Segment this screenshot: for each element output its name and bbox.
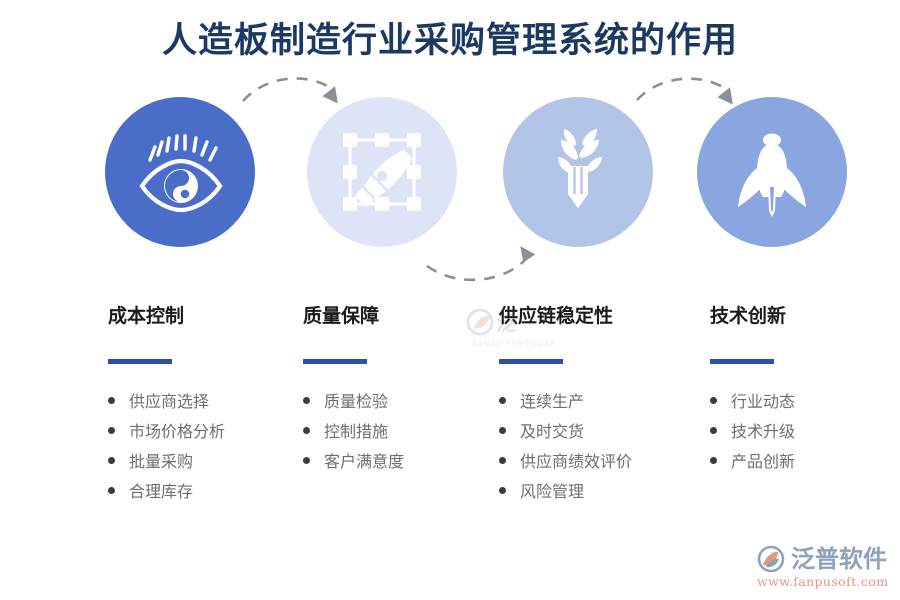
column-rule — [710, 359, 774, 364]
list-item-label: 风险管理 — [520, 482, 584, 502]
page-title: 人造板制造行业采购管理系统的作用 — [0, 12, 900, 63]
bullet-dot-icon — [303, 457, 310, 464]
list-item: 连续生产 — [499, 392, 699, 412]
list-item: 供应商选择 — [108, 392, 308, 412]
brand-url: www.fanpusoft.com — [757, 574, 896, 589]
column-rule — [303, 359, 367, 364]
list-item-label: 供应商绩效评价 — [520, 452, 632, 472]
icon-circle-innovation[interactable] — [697, 97, 847, 247]
column-list: 行业动态 技术升级 产品创新 — [710, 392, 900, 472]
list-item-label: 供应商选择 — [129, 392, 209, 412]
pen-tool-icon — [340, 130, 424, 214]
fanpu-logo-mark — [756, 545, 786, 573]
arrow-2-to-3 — [427, 261, 524, 280]
column-heading: 质量保障 — [303, 305, 503, 327]
list-item: 市场价格分析 — [108, 422, 308, 442]
list-item-label: 及时交货 — [520, 422, 584, 442]
bullet-dot-icon — [499, 457, 506, 464]
list-item-label: 行业动态 — [731, 392, 795, 412]
column-rule — [499, 359, 563, 364]
brand-name: 泛普软件 — [791, 546, 887, 572]
pencil-plant-icon — [539, 126, 617, 218]
column-list: 连续生产 及时交货 供应商绩效评价 风险管理 — [499, 392, 699, 502]
list-item: 及时交货 — [499, 422, 699, 442]
brand-row: 泛普软件 — [756, 545, 896, 573]
bullet-dot-icon — [303, 397, 310, 404]
bullet-dot-icon — [499, 487, 506, 494]
list-item: 合理库存 — [108, 482, 308, 502]
bullet-dot-icon — [108, 397, 115, 404]
rocket-icon — [727, 127, 817, 217]
list-item: 客户满意度 — [303, 452, 503, 472]
icon-circle-cost-control[interactable] — [105, 97, 255, 247]
list-item: 技术升级 — [710, 422, 900, 442]
icon-circle-supply-chain[interactable] — [503, 97, 653, 247]
list-item: 风险管理 — [499, 482, 699, 502]
bullet-dot-icon — [499, 397, 506, 404]
bullet-dot-icon — [303, 427, 310, 434]
bullet-dot-icon — [499, 427, 506, 434]
list-item-label: 合理库存 — [129, 482, 193, 502]
list-item-label: 市场价格分析 — [129, 422, 225, 442]
list-item-label: 质量检验 — [324, 392, 388, 412]
column-heading: 供应链稳定性 — [499, 305, 699, 327]
list-item: 行业动态 — [710, 392, 900, 412]
column-list: 质量检验 控制措施 客户满意度 — [303, 392, 503, 472]
list-item-label: 控制措施 — [324, 422, 388, 442]
detail-columns: 成本控制 供应商选择 市场价格分析 批量采购 合理库存 — [0, 305, 900, 545]
column-innovation: 技术创新 行业动态 技术升级 产品创新 — [710, 305, 900, 482]
list-item: 产品创新 — [710, 452, 900, 472]
column-cost-control: 成本控制 供应商选择 市场价格分析 批量采购 合理库存 — [108, 305, 308, 512]
bullet-dot-icon — [108, 487, 115, 494]
icon-circle-quality[interactable] — [307, 97, 457, 247]
list-item: 批量采购 — [108, 452, 308, 472]
list-item: 质量检验 — [303, 392, 503, 412]
column-heading: 成本控制 — [108, 305, 308, 327]
column-list: 供应商选择 市场价格分析 批量采购 合理库存 — [108, 392, 308, 502]
bullet-dot-icon — [108, 457, 115, 464]
eye-icon — [134, 130, 226, 214]
bullet-dot-icon — [710, 397, 717, 404]
list-item-label: 产品创新 — [731, 452, 795, 472]
list-item-label: 批量采购 — [129, 452, 193, 472]
column-rule — [108, 359, 172, 364]
bullet-dot-icon — [108, 427, 115, 434]
brand-logo[interactable]: 泛普软件 www.fanpusoft.com — [756, 545, 896, 593]
list-item: 控制措施 — [303, 422, 503, 442]
list-item-label: 技术升级 — [731, 422, 795, 442]
column-quality: 质量保障 质量检验 控制措施 客户满意度 — [303, 305, 503, 482]
column-heading: 技术创新 — [710, 305, 900, 327]
list-item-label: 连续生产 — [520, 392, 584, 412]
column-supply-chain: 供应链稳定性 连续生产 及时交货 供应商绩效评价 风险管理 — [499, 305, 699, 512]
infographic-canvas: 人造板制造行业采购管理系统的作用 — [0, 0, 900, 600]
bullet-dot-icon — [710, 427, 717, 434]
icon-circles-row — [0, 97, 900, 252]
list-item-label: 客户满意度 — [324, 452, 404, 472]
bullet-dot-icon — [710, 457, 717, 464]
list-item: 供应商绩效评价 — [499, 452, 699, 472]
